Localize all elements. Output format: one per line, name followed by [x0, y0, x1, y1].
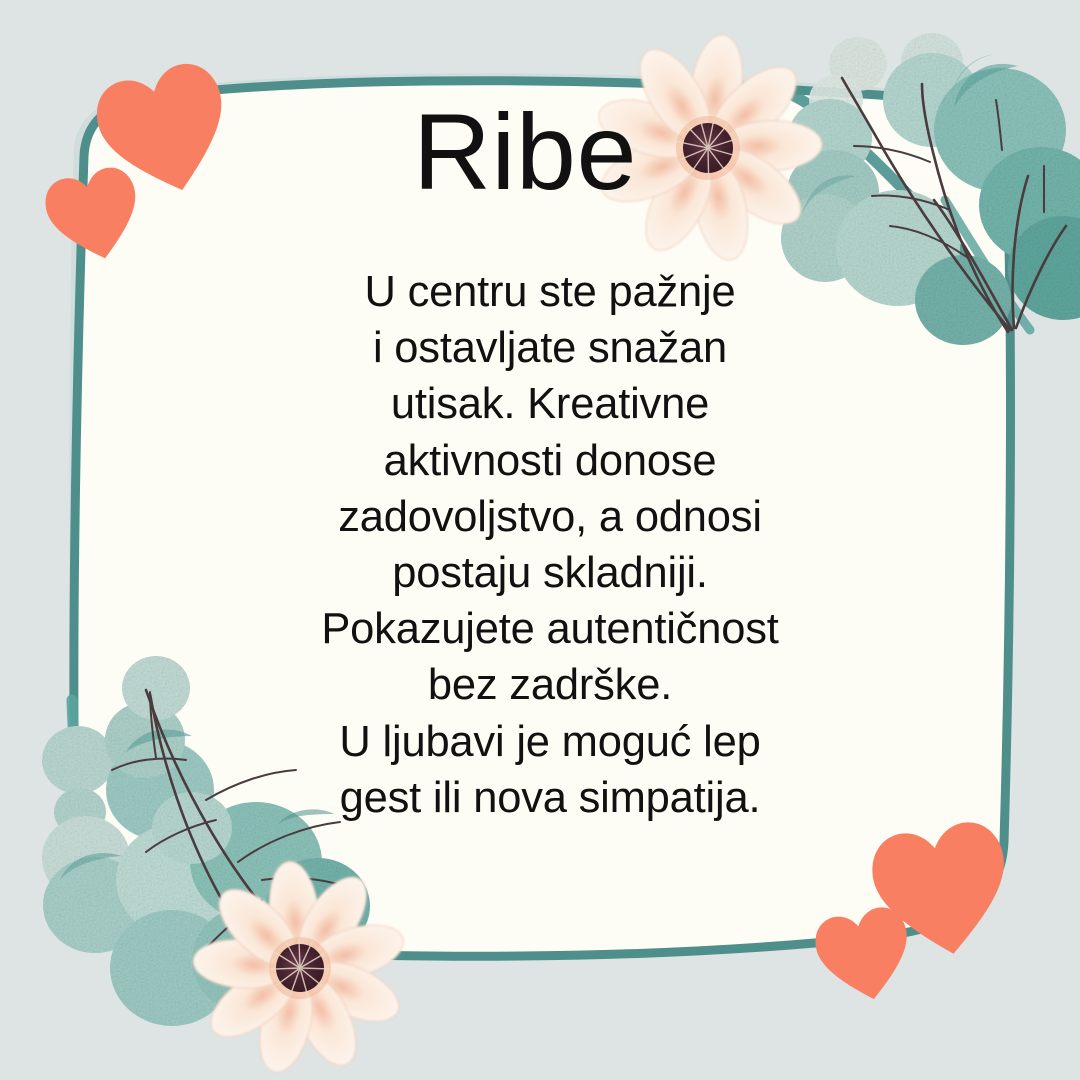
flower-bottom-left: [0, 0, 1080, 1080]
greeting-card-canvas: Ribe U centru ste pažnje i ostavljate sn…: [0, 0, 1080, 1080]
